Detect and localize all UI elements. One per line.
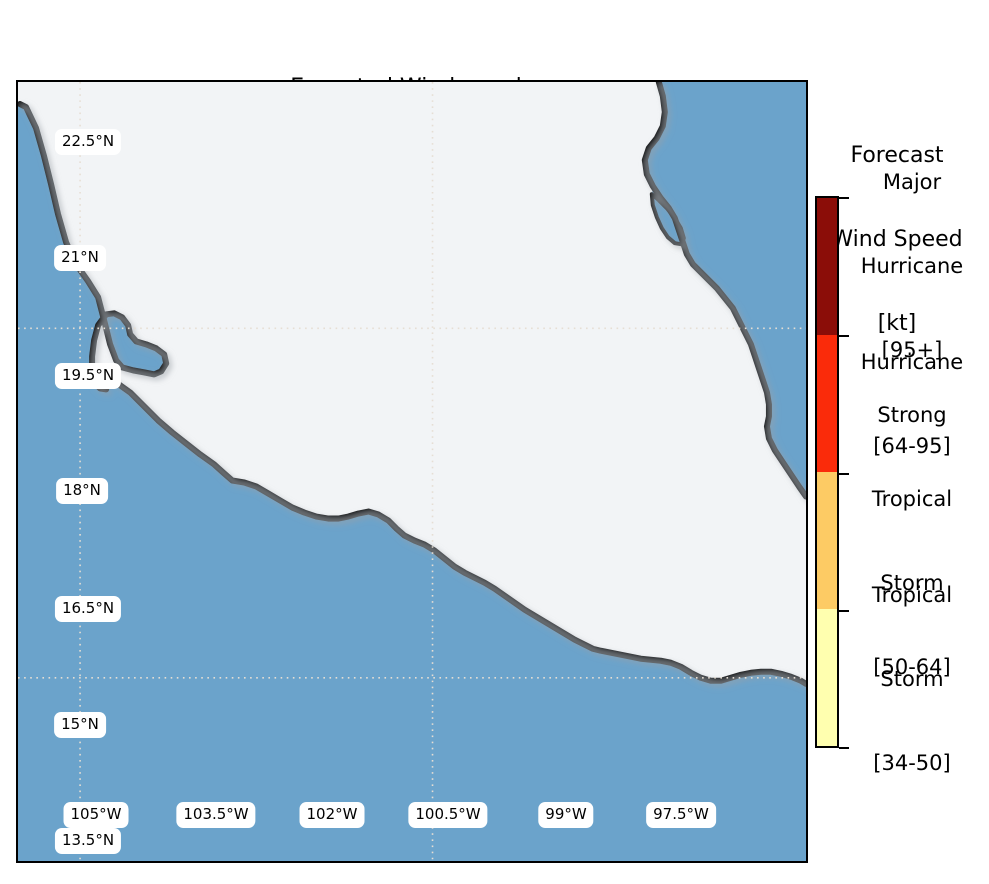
label-strong-ts-line-1: Strong bbox=[842, 401, 982, 429]
lat-label-19-5n: 19.5°N bbox=[55, 363, 121, 389]
lon-label-102w: 102°W bbox=[300, 802, 365, 828]
colorbar-legend: Forecast Wind Speed [kt] Major Hurricane… bbox=[812, 80, 989, 863]
colorbar-segment-major-hurricane[interactable] bbox=[817, 198, 837, 335]
label-major-hurricane-line-2: Hurricane bbox=[842, 252, 982, 280]
lon-label-99w: 99°W bbox=[538, 802, 593, 828]
colorbar-segment-tropical-storm[interactable] bbox=[817, 609, 837, 746]
lon-label-103-5w: 103.5°W bbox=[176, 802, 255, 828]
colorbar-segment-hurricane[interactable] bbox=[817, 335, 837, 472]
lat-label-21n: 21°N bbox=[54, 245, 106, 271]
label-strong-ts-line-2: Tropical bbox=[842, 485, 982, 513]
label-ts-line-1: Tropical bbox=[842, 581, 982, 609]
label-ts-line-2: Storm bbox=[842, 665, 982, 693]
colorbar-segment-strong-tropical-storm[interactable] bbox=[817, 472, 837, 609]
lat-label-15n: 15°N bbox=[54, 712, 106, 738]
label-ts-line-3: [34-50] bbox=[842, 749, 982, 777]
colorbar-label-tropical-storm: Tropical Storm [34-50] bbox=[842, 525, 982, 833]
label-major-hurricane-line-1: Major bbox=[842, 168, 982, 196]
lat-label-18n: 18°N bbox=[56, 478, 108, 504]
lat-label-13-5n: 13.5°N bbox=[55, 828, 121, 854]
map-canvas bbox=[18, 82, 806, 861]
lon-label-105w: 105°W bbox=[64, 802, 129, 828]
lat-label-16-5n: 16.5°N bbox=[55, 596, 121, 622]
lon-label-100-5w: 100.5°W bbox=[408, 802, 487, 828]
lon-label-97-5w: 97.5°W bbox=[646, 802, 716, 828]
map-panel[interactable]: 22.5°N 21°N 19.5°N 18°N 16.5°N 15°N 13.5… bbox=[16, 80, 808, 863]
lat-label-22-5n: 22.5°N bbox=[55, 129, 121, 155]
colorbar-gradient-bar[interactable] bbox=[815, 196, 839, 748]
